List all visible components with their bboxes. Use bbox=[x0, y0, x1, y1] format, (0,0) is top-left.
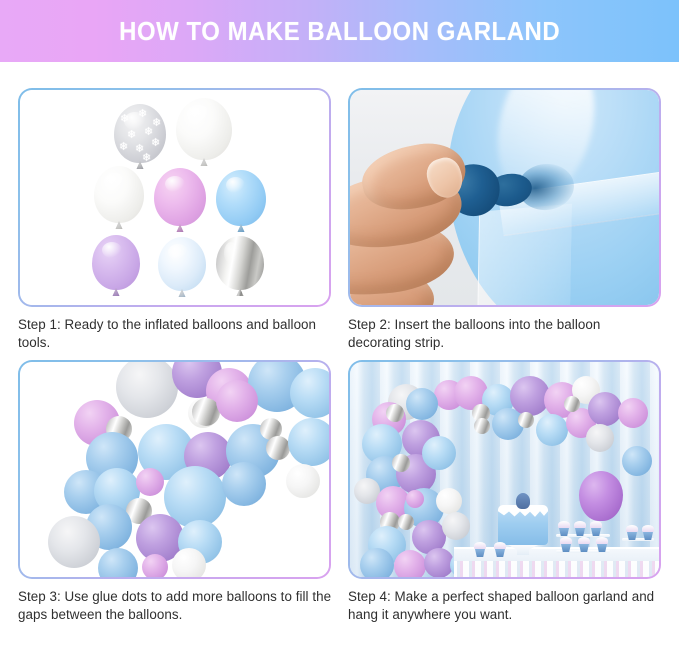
garland-balloon bbox=[474, 418, 490, 434]
garland-balloon bbox=[386, 404, 404, 422]
garland-balloon bbox=[116, 362, 178, 418]
step-3-image-frame bbox=[18, 360, 331, 579]
garland-balloon bbox=[142, 554, 168, 577]
garland-balloon bbox=[290, 368, 329, 418]
garland-balloon bbox=[406, 388, 438, 420]
garland-balloon bbox=[442, 512, 470, 540]
garland-balloon bbox=[564, 396, 580, 412]
step-2-photo bbox=[350, 90, 659, 305]
table-skirt bbox=[454, 561, 659, 577]
garland-balloon bbox=[394, 550, 426, 577]
garland-balloon bbox=[422, 436, 456, 470]
garland-balloon bbox=[266, 436, 290, 460]
garland-balloon bbox=[216, 380, 258, 422]
garland-balloon bbox=[98, 548, 138, 577]
cupcake bbox=[574, 521, 586, 536]
step-3-caption: Step 3: Use glue dots to add more balloo… bbox=[18, 588, 334, 624]
step-1-photo: ❄ ❄ ❄ ❄ ❄ ❄ ❄ ❄ ❄ bbox=[20, 90, 329, 305]
garland-balloon bbox=[286, 464, 320, 498]
garland-balloon bbox=[288, 418, 329, 466]
garland-balloon bbox=[222, 462, 266, 506]
garland-balloon bbox=[588, 392, 622, 426]
step-2-image-frame bbox=[348, 88, 661, 307]
garland-balloon bbox=[172, 548, 206, 577]
cupcake bbox=[596, 537, 608, 552]
cupcake bbox=[558, 521, 570, 536]
garland-balloon bbox=[622, 446, 652, 476]
step-card-2: Step 2: Insert the balloons into the bal… bbox=[348, 88, 661, 352]
step-4-image-frame bbox=[348, 360, 661, 579]
garland-balloon bbox=[136, 468, 164, 496]
cupcake bbox=[560, 537, 572, 552]
step-1-caption: Step 1: Ready to the inflated balloons a… bbox=[18, 316, 334, 352]
garland-balloon bbox=[360, 548, 394, 577]
snowflake-confetti-balloon: ❄ ❄ ❄ ❄ ❄ ❄ ❄ ❄ ❄ bbox=[114, 104, 166, 163]
garland-balloon bbox=[518, 412, 534, 428]
garland-balloon bbox=[618, 398, 648, 428]
white-balloon-mid bbox=[94, 166, 144, 223]
chrome-silver-balloon bbox=[216, 236, 264, 290]
cupcake bbox=[590, 521, 602, 536]
step-4-photo bbox=[350, 362, 659, 577]
pink-balloon bbox=[154, 168, 206, 226]
blue-balloon bbox=[216, 170, 266, 226]
page-header-banner: HOW TO MAKE BALLOON GARLAND bbox=[0, 0, 679, 62]
white-balloon-top bbox=[176, 98, 232, 160]
garland-balloon bbox=[398, 514, 414, 530]
step-2-caption: Step 2: Insert the balloons into the bal… bbox=[348, 316, 664, 352]
garland-balloon bbox=[586, 424, 614, 452]
cupcake bbox=[494, 542, 506, 557]
cupcake bbox=[626, 525, 638, 540]
step-card-4: Step 4: Make a perfect shaped balloon ga… bbox=[348, 360, 661, 624]
cupcake bbox=[474, 542, 486, 557]
garland-balloon bbox=[536, 414, 568, 446]
garland-balloon bbox=[406, 490, 424, 508]
cake-topper bbox=[516, 493, 530, 509]
steps-grid: ❄ ❄ ❄ ❄ ❄ ❄ ❄ ❄ ❄ bbox=[0, 62, 679, 649]
hand bbox=[350, 146, 500, 305]
step-card-3: Step 3: Use glue dots to add more balloo… bbox=[18, 360, 331, 624]
page-title: HOW TO MAKE BALLOON GARLAND bbox=[119, 16, 560, 47]
garland-balloon bbox=[436, 488, 462, 514]
standing-purple-balloon bbox=[579, 471, 623, 521]
step-1-image-frame: ❄ ❄ ❄ ❄ ❄ ❄ ❄ ❄ ❄ bbox=[18, 88, 331, 307]
step-card-1: ❄ ❄ ❄ ❄ ❄ ❄ ❄ ❄ ❄ bbox=[18, 88, 331, 352]
lavender-balloon bbox=[92, 235, 140, 290]
cupcake bbox=[642, 525, 654, 540]
garland-balloon bbox=[392, 454, 410, 472]
step-3-photo bbox=[20, 362, 329, 577]
step-4-caption: Step 4: Make a perfect shaped balloon ga… bbox=[348, 588, 664, 624]
cupcake bbox=[578, 537, 590, 552]
garland-balloon bbox=[48, 516, 100, 568]
clear-blue-balloon bbox=[158, 237, 206, 291]
